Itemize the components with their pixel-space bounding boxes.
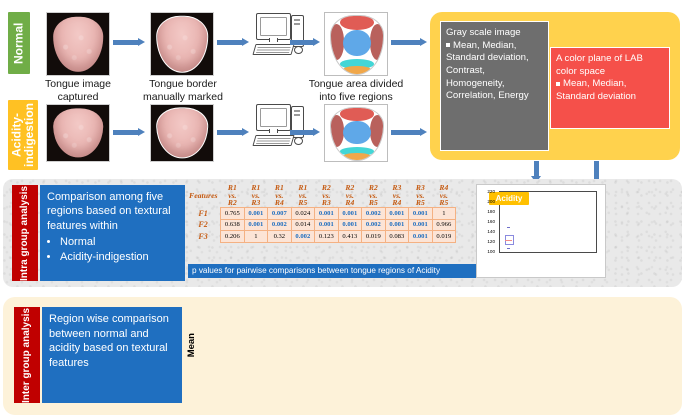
acidity-plot-badge: Acidity: [489, 192, 529, 205]
tongue-image-acidity-captured: [46, 104, 110, 162]
intra-description-item-acidity: Acidity-indigestion: [60, 250, 180, 264]
column-header: R1vs.R2: [221, 184, 245, 207]
caption-line-1: Tongue border: [149, 78, 217, 90]
table-cell: 0.001: [385, 219, 409, 231]
table-cell: 0.014: [291, 219, 315, 231]
p-value-table-grid: Features R1vs.R2 R1vs.R3 R1vs.R4 R1vs.R5…: [188, 184, 456, 243]
table-cell: 0.001: [385, 207, 409, 219]
column-header: R2vs.R4: [338, 184, 362, 207]
intra-description-item-normal: Normal: [60, 235, 180, 249]
y-axis-label-mean: Mean: [186, 333, 197, 357]
caption-line-2: into five regions: [319, 91, 393, 103]
y-axis-tick: 120: [477, 239, 495, 244]
column-header: R2vs.R5: [362, 184, 386, 207]
table-cell: 0.024: [291, 207, 315, 219]
table-cell: 0.638: [221, 219, 245, 231]
table-cell: 0.001: [409, 231, 433, 243]
caption-line-1: Tongue area divided: [309, 78, 404, 90]
column-header: R2vs.R3: [315, 184, 339, 207]
caption-line-2: manually marked: [143, 91, 223, 103]
arrow-acidity-capture-to-border: [113, 128, 145, 137]
arrow-normal-regions-to-features: [391, 38, 429, 47]
gray-box-heading: Gray scale image: [446, 27, 521, 38]
table-cell: 0.001: [244, 219, 268, 231]
intra-description-list: Normal Acidity-indigestion: [47, 235, 180, 265]
table-cell: 0.966: [432, 219, 456, 231]
feature-extraction-card: Gray scale image Mean, Median, Standard …: [430, 12, 680, 160]
column-header: R1vs.R3: [244, 184, 268, 207]
computer-icon-normal: [254, 13, 304, 55]
arrow-normal-border-to-computer: [217, 38, 249, 47]
inter-group-description: Region wise comparison between normal an…: [42, 307, 182, 403]
table-row-header: F1: [188, 207, 221, 219]
table-cell: 0.206: [221, 231, 245, 243]
table-cell: 0.002: [291, 231, 315, 243]
table-row: F20.6380.0010.0020.0140.0010.0010.0020.0…: [188, 219, 456, 231]
table-row: F10.7650.0010.0070.0240.0010.0010.0020.0…: [188, 207, 456, 219]
table-cell: 0.002: [362, 219, 386, 231]
table-cell: 0.001: [338, 207, 362, 219]
whisker-cap-upper: [507, 227, 510, 228]
gray-scale-feature-box: Gray scale image Mean, Median, Standard …: [440, 21, 549, 151]
y-axis-tick: 160: [477, 219, 495, 224]
inter-group-tag: Inter group analysis: [14, 307, 40, 403]
table-cell: 0.001: [244, 207, 268, 219]
inter-group-chart-row: Mean: [186, 303, 678, 409]
region-map-normal: [324, 12, 388, 76]
y-axis-tick: 140: [477, 229, 495, 234]
acidity-region-boxplot-card: Acidity 100120140160180200220: [476, 184, 606, 278]
intra-group-description: Comparison among five regions based on t…: [40, 185, 185, 281]
median-line: [505, 240, 513, 241]
caption-line-1: Tongue image: [45, 78, 111, 90]
caption-line-2: captured: [58, 91, 99, 103]
table-cell: 0.32: [268, 231, 292, 243]
table-body: F10.7650.0010.0070.0240.0010.0010.0020.0…: [188, 207, 456, 242]
tongue-image-normal-captured: [46, 12, 110, 76]
bullet-icon: [556, 82, 560, 86]
table-cell: 0.001: [409, 207, 433, 219]
y-axis-tick: 200: [477, 199, 495, 204]
table-row-header: F3: [188, 231, 221, 243]
table-header-row: Features R1vs.R2 R1vs.R3 R1vs.R4 R1vs.R5…: [188, 184, 456, 207]
tongue-image-normal-marked: [150, 12, 214, 76]
table-cell: 0.002: [362, 207, 386, 219]
intra-description-heading: Comparison among five regions based on t…: [47, 191, 171, 232]
p-value-table: Features R1vs.R2 R1vs.R3 R1vs.R4 R1vs.R5…: [188, 184, 465, 243]
column-header: R4vs.R5: [432, 184, 456, 207]
computer-icon-acidity: [254, 104, 304, 146]
lab-box-features: Mean, Median, Standard deviation: [556, 78, 636, 102]
arrow-normal-computer-to-regions: [290, 38, 320, 47]
table-cell: 0.083: [385, 231, 409, 243]
y-axis-tick: 180: [477, 209, 495, 214]
table-cell: 0.123: [315, 231, 339, 243]
whisker-cap-lower: [507, 248, 510, 249]
table-cell: 0.002: [268, 219, 292, 231]
table-cell: 0.001: [338, 219, 362, 231]
table-cell: 0.019: [432, 231, 456, 243]
bullet-icon: [446, 43, 450, 47]
tongue-image-acidity-marked: [150, 104, 214, 162]
p-value-table-caption: p values for pairwise comparisons betwee…: [188, 264, 484, 278]
table-cell: 0.001: [409, 219, 433, 231]
table-cell: 1: [244, 231, 268, 243]
column-header: R1vs.R4: [268, 184, 292, 207]
region-map-acidity: [324, 104, 388, 162]
group-label-acidity: Acidity-indigestion: [8, 100, 38, 170]
column-header: R3vs.R4: [385, 184, 409, 207]
table-cell: 0.007: [268, 207, 292, 219]
arrow-acidity-regions-to-features: [391, 128, 429, 137]
intra-group-tag: Intra group analysis: [12, 185, 38, 281]
pipeline-panel: Normal Acidity-indigestion: [0, 0, 685, 175]
step-caption-marked: Tongue border manually marked: [137, 78, 229, 104]
table-cell: 0.765: [221, 207, 245, 219]
column-header: R3vs.R5: [409, 184, 433, 207]
step-caption-five-regions: Tongue area divided into five regions: [300, 78, 412, 104]
table-cell: 0.413: [338, 231, 362, 243]
table-row-header: F2: [188, 219, 221, 231]
arrow-acidity-computer-to-regions: [290, 128, 320, 137]
arrow-acidity-border-to-computer: [217, 128, 249, 137]
gray-box-features: Mean, Median, Standard deviation, Contra…: [446, 40, 529, 102]
table-cell: 0.001: [315, 219, 339, 231]
figure-canvas: Normal Acidity-indigestion: [0, 0, 685, 419]
y-axis-tick: 100: [477, 249, 495, 254]
arrow-normal-capture-to-border: [113, 38, 145, 47]
table-corner-header: Features: [188, 184, 221, 207]
step-caption-captured: Tongue image captured: [36, 78, 120, 104]
table-cell: 0.019: [362, 231, 386, 243]
column-header: R1vs.R5: [291, 184, 315, 207]
group-label-normal: Normal: [8, 12, 30, 74]
table-cell: 0.001: [315, 207, 339, 219]
lab-color-feature-box: A color plane of LAB color space Mean, M…: [550, 47, 670, 129]
table-row: F30.20610.320.0020.1230.4130.0190.0830.0…: [188, 231, 456, 243]
lab-box-heading: A color plane of LAB color space: [556, 53, 643, 77]
y-axis-tick: 220: [477, 189, 495, 194]
table-cell: 1: [432, 207, 456, 219]
